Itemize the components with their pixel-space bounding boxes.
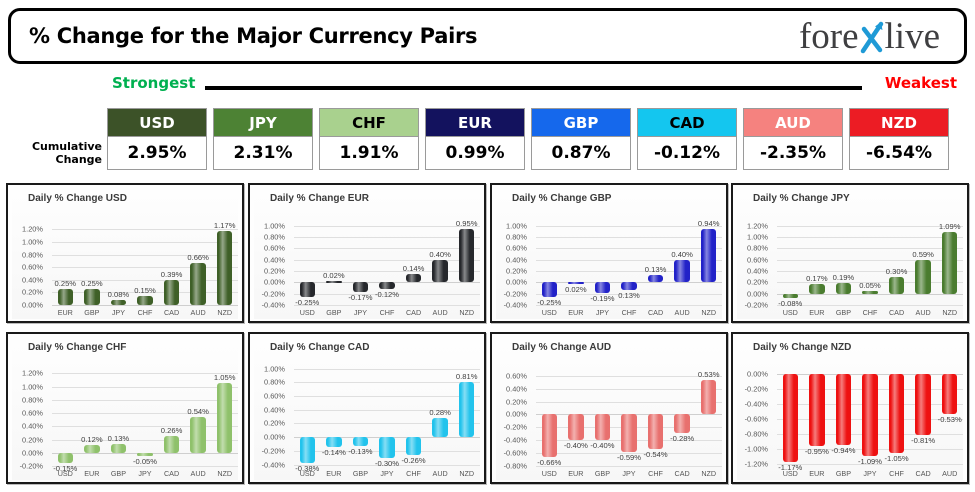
chart-inner-eur: Daily % Change EUR1.00%0.80%0.60%0.40%0.…: [254, 189, 480, 319]
bar-value-label: 0.19%: [833, 273, 855, 282]
x-axis-label: AUD: [916, 308, 931, 317]
currency-value-eur: 0.99%: [425, 136, 525, 170]
y-axis-tick: 0.20%: [22, 288, 43, 297]
y-axis-tick: 1.00%: [506, 221, 527, 230]
chart-title-eur: Daily % Change EUR: [270, 193, 369, 204]
bar-value-label: 0.15%: [134, 286, 156, 295]
gridline: [777, 237, 963, 238]
bar-value-label: -0.08%: [778, 299, 802, 308]
bar-aud-cad[interactable]: [674, 414, 689, 432]
x-axis-label: USD: [783, 469, 798, 478]
x-axis-label: CAD: [406, 308, 421, 317]
x-axis-label: AUD: [191, 469, 206, 478]
bar-cad-eur[interactable]: [326, 437, 341, 447]
bar-value-label: -0.28%: [670, 434, 694, 443]
bar-jpy-eur[interactable]: [809, 284, 824, 294]
bar-value-label: -0.19%: [590, 294, 614, 303]
bar-value-label: 0.54%: [187, 407, 209, 416]
x-axis-label: EUR: [58, 308, 73, 317]
gridline: [777, 271, 963, 272]
y-axis-tick: 0.60%: [22, 409, 43, 418]
currency-card-chf[interactable]: CHF1.91%: [319, 108, 419, 172]
x-axis-label: JPY: [596, 308, 609, 317]
gridline: [777, 260, 963, 261]
bar-gbp-nzd[interactable]: [701, 229, 716, 282]
y-axis-tick: -0.20%: [262, 446, 285, 455]
y-axis-tick: 1.20%: [22, 225, 43, 234]
bar-value-label: -0.54%: [644, 450, 668, 459]
bar-value-label: -0.53%: [938, 415, 962, 424]
bar-value-label: 1.05%: [214, 373, 236, 382]
bar-cad-gbp[interactable]: [353, 437, 368, 446]
gridline: [536, 260, 722, 261]
y-axis-tick: 0.00%: [22, 301, 43, 310]
bar-eur-chf[interactable]: [379, 282, 394, 289]
bar-cad-chf[interactable]: [406, 437, 421, 455]
x-axis-label: CHF: [863, 308, 878, 317]
y-axis-tick: 0.40%: [264, 405, 285, 414]
bar-value-label: 0.17%: [806, 274, 828, 283]
plot-area-cad: 1.00%0.80%0.60%0.40%0.20%0.00%-0.20%-0.4…: [254, 356, 478, 480]
gridline: [294, 369, 480, 370]
x-axis-label: AUD: [942, 469, 957, 478]
chart-panel-chf[interactable]: Daily % Change CHF1.20%1.00%0.80%0.60%0.…: [6, 332, 244, 484]
bar-chf-gbp[interactable]: [111, 444, 126, 453]
bar-gbp-aud[interactable]: [674, 260, 689, 283]
bar-usd-eur[interactable]: [58, 289, 73, 305]
bar-value-label: 0.08%: [108, 290, 130, 299]
gridline: [536, 466, 722, 467]
currency-code-chf: CHF: [319, 108, 419, 136]
y-axis-tick: 0.40%: [506, 384, 527, 393]
currency-code-gbp: GBP: [531, 108, 631, 136]
y-axis-tick: 0.20%: [747, 278, 768, 287]
y-axis-tick: 0.20%: [506, 397, 527, 406]
gridline: [294, 260, 480, 261]
bar-value-label: -0.66%: [537, 458, 561, 467]
y-axis-tick: 0.60%: [22, 263, 43, 272]
currency-value-usd: 2.95%: [107, 136, 207, 170]
x-axis-label: CAD: [916, 469, 931, 478]
plot-area-aud: 0.60%0.40%0.20%0.00%-0.20%-0.40%-0.60%-0…: [496, 356, 720, 480]
y-axis-tick: 0.80%: [747, 244, 768, 253]
y-axis-tick: 0.20%: [506, 267, 527, 276]
chart-panel-gbp[interactable]: Daily % Change GBP1.00%0.80%0.60%0.40%0.…: [490, 183, 728, 323]
x-axis-label: EUR: [326, 469, 341, 478]
bar-value-label: -0.40%: [590, 441, 614, 450]
x-axis-label: AUD: [675, 308, 690, 317]
bar-eur-nzd[interactable]: [459, 229, 474, 283]
bar-value-label: -0.26%: [402, 456, 426, 465]
bar-gbp-jpy[interactable]: [595, 282, 610, 293]
y-axis-tick: 1.20%: [22, 369, 43, 378]
weakest-label: Weakest: [885, 74, 957, 92]
bar-aud-chf[interactable]: [648, 414, 663, 449]
y-axis-tick: 0.40%: [506, 255, 527, 264]
gridline: [52, 373, 238, 374]
bar-value-label: 0.30%: [886, 267, 908, 276]
bar-chf-usd[interactable]: [58, 453, 73, 463]
gridline: [52, 305, 238, 306]
gridline: [294, 396, 480, 397]
x-axis-label: USD: [300, 308, 315, 317]
currency-card-nzd[interactable]: NZD-6.54%: [849, 108, 949, 172]
bar-value-label: -0.25%: [295, 298, 319, 307]
gridline: [777, 248, 963, 249]
bar-value-label: -0.05%: [133, 457, 157, 466]
y-axis-tick: 0.80%: [264, 378, 285, 387]
x-axis-label: NZD: [459, 308, 474, 317]
x-axis-label: USD: [783, 308, 798, 317]
x-axis-label: NZD: [942, 308, 957, 317]
bar-nzd-eur[interactable]: [809, 374, 824, 446]
gridline: [52, 255, 238, 256]
x-axis-label: EUR: [84, 469, 99, 478]
gridline: [294, 226, 480, 227]
y-axis-tick: -0.40%: [262, 301, 285, 310]
y-axis-tick: -1.00%: [745, 445, 768, 454]
bar-jpy-gbp[interactable]: [836, 283, 851, 294]
bar-usd-nzd[interactable]: [217, 231, 232, 305]
bar-value-label: -0.81%: [911, 436, 935, 445]
x-axis-label: USD: [300, 469, 315, 478]
gridline: [52, 387, 238, 388]
y-axis-tick: -0.40%: [745, 399, 768, 408]
x-axis-label: EUR: [568, 308, 583, 317]
bar-eur-gbp[interactable]: [326, 281, 341, 283]
y-axis-tick: 1.00%: [22, 237, 43, 246]
y-axis-tick: -0.80%: [504, 462, 527, 471]
bar-usd-jpy[interactable]: [111, 300, 126, 305]
bar-usd-cad[interactable]: [164, 280, 179, 305]
y-axis-tick: 0.80%: [22, 395, 43, 404]
chart-inner-usd: Daily % Change USD1.20%1.00%0.80%0.60%0.…: [12, 189, 238, 319]
gridline: [52, 280, 238, 281]
cumulative-change-label: Cumulative Change: [22, 140, 102, 166]
bar-chf-nzd[interactable]: [217, 383, 232, 453]
chart-panel-usd[interactable]: Daily % Change USD1.20%1.00%0.80%0.60%0.…: [6, 183, 244, 323]
bar-nzd-aud[interactable]: [942, 374, 957, 414]
forexlive-logo: forelive: [799, 17, 940, 55]
bar-value-label: -0.13%: [348, 447, 372, 456]
x-axis-label: NZD: [701, 308, 716, 317]
gridline: [536, 226, 722, 227]
bar-chf-aud[interactable]: [190, 417, 205, 453]
bar-gbp-cad[interactable]: [648, 275, 663, 282]
x-axis-label: NZD: [217, 308, 232, 317]
y-axis-tick: -0.20%: [20, 462, 43, 471]
y-axis-tick: -0.20%: [745, 301, 768, 310]
gridline: [52, 440, 238, 441]
gridline: [294, 248, 480, 249]
bar-nzd-gbp[interactable]: [836, 374, 851, 445]
currency-value-aud: -2.35%: [743, 136, 843, 170]
currency-code-nzd: NZD: [849, 108, 949, 136]
chart-panel-eur[interactable]: Daily % Change EUR1.00%0.80%0.60%0.40%0.…: [248, 183, 486, 323]
bar-nzd-jpy[interactable]: [862, 374, 877, 457]
x-axis-label: JPY: [380, 469, 393, 478]
bar-value-label: 1.09%: [939, 222, 961, 231]
y-axis-tick: 0.40%: [22, 422, 43, 431]
x-axis-label: CHF: [648, 469, 663, 478]
bar-value-label: 0.05%: [859, 281, 881, 290]
y-axis-tick: 0.00%: [22, 448, 43, 457]
x-axis-label: JPY: [354, 308, 367, 317]
y-axis-tick: -0.40%: [504, 301, 527, 310]
gridline: [536, 389, 722, 390]
currency-card-cad[interactable]: CAD-0.12%: [637, 108, 737, 172]
y-axis-tick: 0.60%: [747, 255, 768, 264]
currency-value-jpy: 2.31%: [213, 136, 313, 170]
bar-nzd-chf[interactable]: [889, 374, 904, 454]
currency-card-gbp[interactable]: GBP0.87%: [531, 108, 631, 172]
y-axis-tick: 0.00%: [747, 369, 768, 378]
bar-nzd-usd[interactable]: [783, 374, 798, 463]
bar-value-label: -0.12%: [375, 290, 399, 299]
bar-value-label: 0.39%: [161, 270, 183, 279]
gridline: [294, 410, 480, 411]
x-axis-label: CAD: [164, 308, 179, 317]
gridline: [52, 466, 238, 467]
bar-aud-jpy[interactable]: [621, 414, 636, 452]
bar-jpy-usd[interactable]: [783, 294, 798, 299]
gridline: [536, 271, 722, 272]
gridline: [536, 305, 722, 306]
bar-cad-aud[interactable]: [432, 418, 447, 437]
chart-panel-cad[interactable]: Daily % Change CAD1.00%0.80%0.60%0.40%0.…: [248, 332, 486, 484]
bar-value-label: 0.25%: [55, 279, 77, 288]
y-axis-tick: -0.20%: [504, 289, 527, 298]
y-axis-tick: -0.20%: [745, 384, 768, 393]
bar-eur-jpy[interactable]: [353, 282, 368, 292]
x-axis-label: CHF: [380, 308, 395, 317]
bar-gbp-eur[interactable]: [568, 282, 583, 284]
bar-eur-aud[interactable]: [432, 260, 447, 283]
currency-value-chf: 1.91%: [319, 136, 419, 170]
x-axis-label: CAD: [164, 469, 179, 478]
bar-nzd-cad[interactable]: [915, 374, 930, 435]
chart-panel-nzd[interactable]: Daily % Change NZD0.00%-0.20%-0.40%-0.60…: [731, 332, 969, 484]
bar-aud-nzd[interactable]: [701, 380, 716, 414]
y-axis-tick: 0.80%: [264, 233, 285, 242]
gridline: [52, 426, 238, 427]
x-axis-label: GBP: [836, 469, 851, 478]
y-axis-tick: 0.40%: [22, 275, 43, 284]
x-axis-label: EUR: [809, 469, 824, 478]
bar-cad-usd[interactable]: [300, 437, 315, 463]
bar-value-label: 0.94%: [698, 219, 720, 228]
bar-aud-eur[interactable]: [568, 414, 583, 440]
gridline: [536, 237, 722, 238]
plot-area-chf: 1.20%1.00%0.80%0.60%0.40%0.20%0.00%-0.20…: [12, 356, 236, 480]
gridline: [294, 382, 480, 383]
bar-value-label: -1.09%: [858, 457, 882, 466]
y-axis-tick: 0.60%: [264, 244, 285, 253]
bar-value-label: 0.25%: [81, 279, 103, 288]
bar-eur-usd[interactable]: [300, 282, 315, 296]
currency-card-jpy[interactable]: JPY2.31%: [213, 108, 313, 172]
x-axis-label: JPY: [138, 469, 151, 478]
chart-title-jpy: Daily % Change JPY: [753, 193, 850, 204]
bar-value-label: -0.25%: [537, 298, 561, 307]
currency-card-eur[interactable]: EUR0.99%: [425, 108, 525, 172]
currency-card-aud[interactable]: AUD-2.35%: [743, 108, 843, 172]
gridline: [777, 305, 963, 306]
x-axis-label: GBP: [111, 469, 126, 478]
bar-aud-usd[interactable]: [542, 414, 557, 456]
plot-area-eur: 1.00%0.80%0.60%0.40%0.20%0.00%-0.20%-0.4…: [254, 207, 478, 319]
bar-value-label: 0.59%: [912, 250, 934, 259]
bar-value-label: 0.12%: [81, 435, 103, 444]
x-axis-label: JPY: [622, 469, 635, 478]
currency-card-usd[interactable]: USD2.95%: [107, 108, 207, 172]
y-axis-tick: -0.80%: [745, 430, 768, 439]
currency-code-cad: CAD: [637, 108, 737, 136]
gridline: [294, 237, 480, 238]
x-axis-label: GBP: [353, 469, 368, 478]
bar-jpy-cad[interactable]: [889, 277, 904, 294]
x-axis-label: CAD: [675, 469, 690, 478]
y-axis-tick: 0.40%: [747, 267, 768, 276]
strongest-label: Strongest: [112, 74, 195, 92]
currency-code-usd: USD: [107, 108, 207, 136]
x-axis-label: NZD: [701, 469, 716, 478]
chart-inner-chf: Daily % Change CHF1.20%1.00%0.80%0.60%0.…: [12, 338, 238, 480]
y-axis-tick: 0.20%: [264, 267, 285, 276]
currency-code-aud: AUD: [743, 108, 843, 136]
gridline: [536, 376, 722, 377]
bar-value-label: 0.26%: [161, 426, 183, 435]
y-axis-tick: -0.20%: [504, 423, 527, 432]
x-axis-label: CHF: [622, 308, 637, 317]
page-title: % Change for the Major Currency Pairs: [29, 24, 477, 48]
bar-aud-gbp[interactable]: [595, 414, 610, 440]
x-axis-label: EUR: [809, 308, 824, 317]
chart-title-chf: Daily % Change CHF: [28, 342, 126, 353]
chart-panel-aud[interactable]: Daily % Change AUD0.60%0.40%0.20%0.00%-0…: [490, 332, 728, 484]
bar-value-label: 0.53%: [698, 370, 720, 379]
y-axis-tick: 0.00%: [264, 433, 285, 442]
dashboard-root: % Change for the Major Currency Pairs fo…: [0, 0, 975, 492]
x-axis-label: GBP: [836, 308, 851, 317]
x-axis-label: USD: [58, 469, 73, 478]
bar-value-label: -0.17%: [348, 293, 372, 302]
currency-value-gbp: 0.87%: [531, 136, 631, 170]
plot-area-nzd: 0.00%-0.20%-0.40%-0.60%-0.80%-1.00%-1.20…: [737, 356, 961, 480]
title-bar: % Change for the Major Currency Pairs fo…: [8, 8, 967, 64]
y-axis-tick: 0.00%: [506, 278, 527, 287]
bar-jpy-chf[interactable]: [862, 291, 877, 294]
y-axis-tick: 0.20%: [22, 435, 43, 444]
y-axis-tick: 1.00%: [747, 233, 768, 242]
x-axis-label: GBP: [84, 308, 99, 317]
currency-strength-strip: USD2.95%JPY2.31%CHF1.91%EUR0.99%GBP0.87%…: [107, 108, 967, 172]
bar-gbp-chf[interactable]: [621, 282, 636, 289]
y-axis-tick: -0.60%: [745, 415, 768, 424]
cumulative-label-line2: Change: [22, 153, 102, 166]
bar-value-label: 0.40%: [671, 250, 693, 259]
x-axis-label: USD: [542, 308, 557, 317]
bar-value-label: 0.40%: [429, 250, 451, 259]
x-axis-label: AUD: [433, 308, 448, 317]
bar-value-label: 0.14%: [403, 264, 425, 273]
x-axis-label: AUD: [433, 469, 448, 478]
bar-value-label: -0.40%: [564, 441, 588, 450]
plot-area-gbp: 1.00%0.80%0.60%0.40%0.20%0.00%-0.20%-0.4…: [496, 207, 720, 319]
gridline: [536, 402, 722, 403]
y-axis-tick: 0.80%: [22, 250, 43, 259]
x-axis-label: GBP: [326, 308, 341, 317]
bar-chf-eur[interactable]: [84, 445, 99, 453]
bar-value-label: -1.05%: [885, 454, 909, 463]
bar-jpy-nzd[interactable]: [942, 232, 957, 294]
y-axis-tick: 0.60%: [264, 392, 285, 401]
plot-area-usd: 1.20%1.00%0.80%0.60%0.40%0.20%0.00%0.25%…: [12, 207, 236, 319]
currency-code-eur: EUR: [425, 108, 525, 136]
gridline: [294, 271, 480, 272]
bar-value-label: 0.13%: [108, 434, 130, 443]
bar-value-label: -0.14%: [322, 448, 346, 457]
bar-gbp-usd[interactable]: [542, 282, 557, 296]
gridline: [536, 248, 722, 249]
gridline: [52, 413, 238, 414]
bar-value-label: 0.02%: [323, 271, 345, 280]
y-axis-tick: 0.00%: [506, 410, 527, 419]
y-axis-tick: -1.20%: [745, 460, 768, 469]
bar-usd-chf[interactable]: [137, 296, 152, 305]
logo-text-post: live: [885, 18, 940, 55]
chart-inner-gbp: Daily % Change GBP1.00%0.80%0.60%0.40%0.…: [496, 189, 722, 319]
currency-value-nzd: -6.54%: [849, 136, 949, 170]
y-axis-tick: 0.40%: [264, 255, 285, 264]
bar-usd-aud[interactable]: [190, 263, 205, 305]
bar-value-label: 0.13%: [618, 291, 640, 300]
gridline: [52, 267, 238, 268]
bar-value-label: 0.02%: [565, 285, 587, 294]
x-axis-label: NZD: [459, 469, 474, 478]
currency-code-jpy: JPY: [213, 108, 313, 136]
bar-chf-jpy[interactable]: [137, 453, 152, 456]
bar-eur-cad[interactable]: [406, 274, 421, 282]
bar-cad-nzd[interactable]: [459, 382, 474, 438]
bar-value-label: 1.17%: [214, 221, 236, 230]
x-axis-label: CHF: [138, 308, 153, 317]
bar-value-label: -0.30%: [375, 459, 399, 468]
x-axis-label: GBP: [595, 469, 610, 478]
bar-cad-jpy[interactable]: [379, 437, 394, 458]
y-axis-tick: -0.20%: [262, 289, 285, 298]
y-axis-tick: 0.60%: [506, 244, 527, 253]
y-axis-tick: 1.20%: [747, 221, 768, 230]
chart-inner-nzd: Daily % Change NZD0.00%-0.20%-0.40%-0.60…: [737, 338, 963, 480]
bar-chf-cad[interactable]: [164, 436, 179, 453]
x-axis-label: CAD: [648, 308, 663, 317]
x-axis-label: NZD: [217, 469, 232, 478]
chart-inner-cad: Daily % Change CAD1.00%0.80%0.60%0.40%0.…: [254, 338, 480, 480]
chart-panel-jpy[interactable]: Daily % Change JPY1.20%1.00%0.80%0.60%0.…: [731, 183, 969, 323]
y-axis-tick: 0.20%: [264, 419, 285, 428]
bar-jpy-aud[interactable]: [915, 260, 930, 293]
gridline: [294, 423, 480, 424]
currency-value-cad: -0.12%: [637, 136, 737, 170]
bar-value-label: 0.66%: [187, 253, 209, 262]
x-axis-label: AUD: [191, 308, 206, 317]
bar-usd-gbp[interactable]: [84, 289, 99, 305]
gridline: [777, 294, 963, 295]
rank-divider-line: [205, 86, 862, 90]
y-axis-tick: 0.00%: [264, 278, 285, 287]
gridline: [777, 226, 963, 227]
